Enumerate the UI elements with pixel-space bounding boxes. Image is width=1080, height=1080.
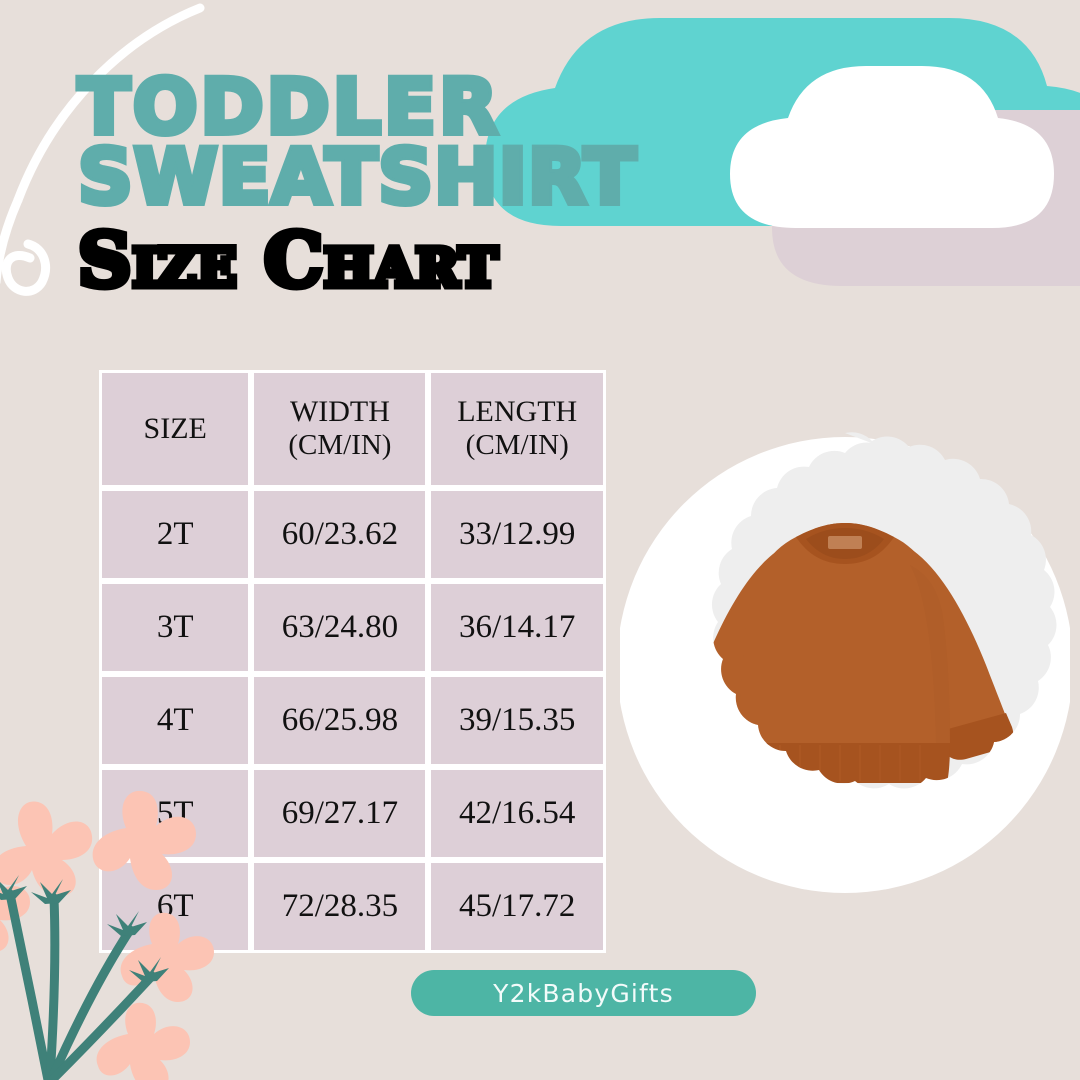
cell-length: 39/15.35 [428,674,606,767]
cell-width: 66/25.98 [251,674,428,767]
shop-name-label: Y2kBabyGifts [493,979,674,1008]
cell-size: 4T [99,674,251,767]
shop-name-badge: Y2kBabyGifts [411,970,756,1016]
cell-width: 69/27.17 [251,767,428,860]
column-header-length: LENGTH (CM/IN) [428,370,606,488]
page-subtitle: Size Chart [78,224,778,298]
cell-length: 42/16.54 [428,767,606,860]
cell-length: 33/12.99 [428,488,606,581]
cell-width: 72/28.35 [251,860,428,953]
column-header-size: SIZE [99,370,251,488]
size-chart-graphic: TODDLER SWEATSHIRT Size Chart SIZE WIDTH… [0,0,1080,1080]
column-header-width: WIDTH (CM/IN) [251,370,428,488]
table-row: 3T 63/24.80 36/14.17 [99,581,606,674]
mauve-cloud-icon [772,110,1080,286]
table-row: 4T 66/25.98 39/15.35 [99,674,606,767]
cell-length: 36/14.17 [428,581,606,674]
table-row: 2T 60/23.62 33/12.99 [99,488,606,581]
cell-width: 63/24.80 [251,581,428,674]
size-chart-table: SIZE WIDTH (CM/IN) LENGTH (CM/IN) 2T 60/… [99,370,606,953]
title-line-2: SWEATSHIRT [78,142,778,212]
cell-size: 3T [99,581,251,674]
page-title: TODDLER SWEATSHIRT Size Chart [78,72,778,298]
cell-width: 60/23.62 [251,488,428,581]
cell-size: 6T [99,860,251,953]
table-row: 6T 72/28.35 45/17.72 [99,860,606,953]
cell-size: 2T [99,488,251,581]
cell-size: 5T [99,767,251,860]
table-row: 5T 69/27.17 42/16.54 [99,767,606,860]
table-header-row: SIZE WIDTH (CM/IN) LENGTH (CM/IN) [99,370,606,488]
cell-length: 45/17.72 [428,860,606,953]
product-photo [620,415,1070,915]
white-cloud-icon [730,66,1054,228]
